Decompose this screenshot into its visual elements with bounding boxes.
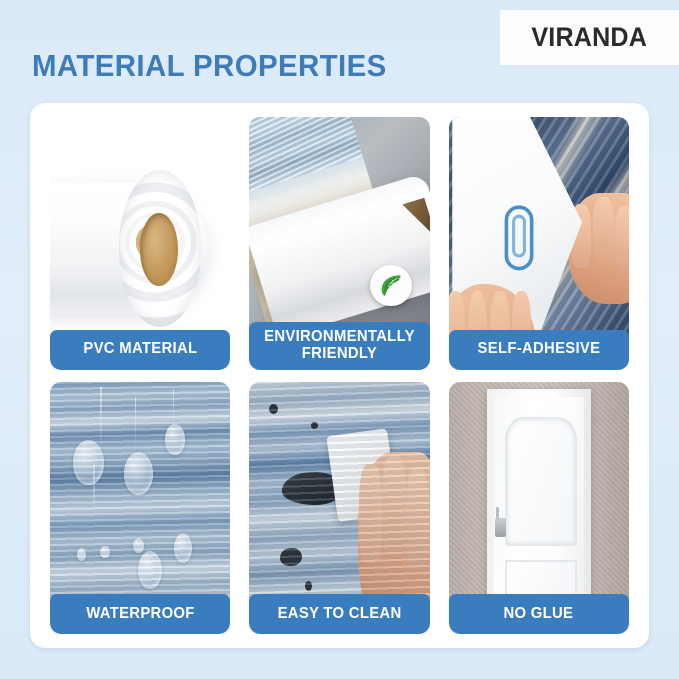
stain-spot xyxy=(269,404,278,414)
water-droplet xyxy=(138,551,161,589)
finger-shape xyxy=(382,456,405,556)
stain-spot xyxy=(280,548,302,566)
droplet-trail xyxy=(173,389,175,434)
feature-label-text: NO GLUE xyxy=(504,606,574,622)
feature-label-text: ENVIRONMENTALLYFRIENDLY xyxy=(264,329,415,361)
finger-shape xyxy=(593,197,614,261)
droplet-trail xyxy=(100,387,102,453)
door-frame-shape xyxy=(487,389,592,616)
stain-spot xyxy=(334,437,345,450)
green-leaf-icon xyxy=(370,265,411,306)
feature-card-waterproof: WATERPROOF xyxy=(50,382,230,635)
feature-label-waterproof: WATERPROOF xyxy=(50,594,230,634)
finger-shape xyxy=(406,468,429,568)
page-title: MATERIAL PROPERTIES xyxy=(32,48,387,84)
feature-grid: PVC MATERIAL xyxy=(50,117,629,634)
feature-card-pvc-material: PVC MATERIAL xyxy=(50,117,230,370)
roll-core-shape xyxy=(140,213,178,286)
water-droplet xyxy=(73,440,104,485)
water-droplet xyxy=(124,452,153,495)
feature-panel: PVC MATERIAL xyxy=(30,103,649,648)
droplet-trail xyxy=(135,397,137,453)
feature-label-self-adhesive: SELF-ADHESIVE xyxy=(449,330,629,370)
feature-label-text: PVC MATERIAL xyxy=(83,341,197,357)
water-droplet xyxy=(77,548,86,561)
feature-card-environmentally-friendly: ENVIRONMENTALLYFRIENDLY xyxy=(249,117,429,370)
door-panel-top xyxy=(505,417,577,546)
right-hand-shape xyxy=(568,193,629,304)
feature-label-pvc-material: PVC MATERIAL xyxy=(50,330,230,370)
paperclip-icon xyxy=(501,200,537,276)
feature-label-easy-to-clean: EASY TO CLEAN xyxy=(249,594,429,634)
water-droplet xyxy=(100,546,109,559)
brand-logo: VIRANDA xyxy=(500,10,679,65)
droplet-trail xyxy=(93,465,95,516)
feature-label-environmentally-friendly: ENVIRONMENTALLYFRIENDLY xyxy=(249,322,429,370)
water-droplet xyxy=(133,538,144,553)
feature-label-text: EASY TO CLEAN xyxy=(278,606,402,622)
infographic-page: VIRANDA MATERIAL PROPERTIES PVC MATERIAL xyxy=(0,0,679,679)
feature-label-text: WATERPROOF xyxy=(86,606,194,622)
feature-card-no-glue: NO GLUE xyxy=(449,382,629,635)
feature-card-self-adhesive: SELF-ADHESIVE xyxy=(449,117,629,370)
finger-shape xyxy=(615,206,629,270)
feature-label-text: SELF-ADHESIVE xyxy=(477,341,600,357)
brand-name: VIRANDA xyxy=(532,22,648,53)
water-droplet xyxy=(165,424,185,454)
water-droplet xyxy=(174,533,192,563)
stain-spot xyxy=(311,422,318,430)
door-shape xyxy=(494,397,584,616)
feature-label-no-glue: NO GLUE xyxy=(449,594,629,634)
door-handle-icon xyxy=(495,518,506,538)
feature-card-easy-to-clean: EASY TO CLEAN xyxy=(249,382,429,635)
finger-shape xyxy=(359,464,382,564)
stain-spot xyxy=(305,581,312,591)
cleaning-cloth xyxy=(327,428,400,522)
stain-smear xyxy=(282,472,343,505)
